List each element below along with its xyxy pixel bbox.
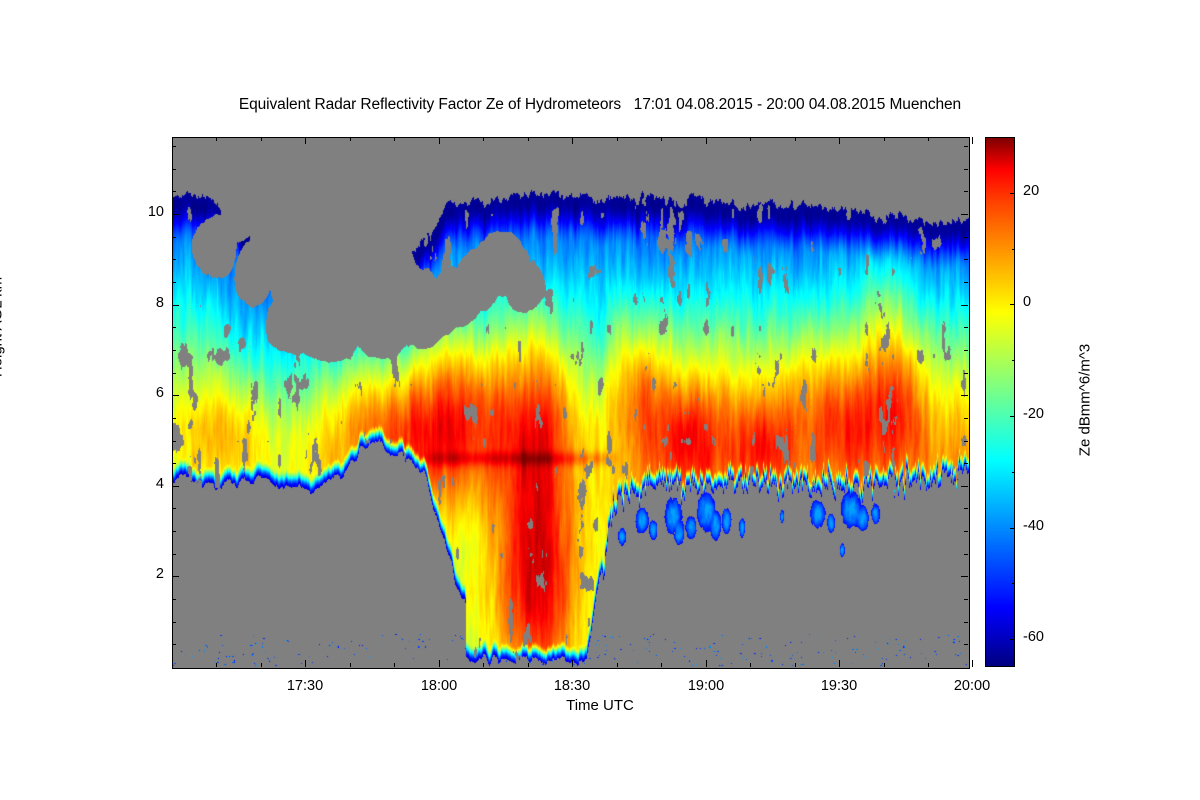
y-axis-minor-tick — [172, 259, 176, 260]
x-axis-minor-tick — [795, 663, 796, 667]
y-axis-label: Height AGL km — [0, 197, 6, 457]
y-axis-minor-tick — [172, 508, 176, 509]
y-axis-tick-label: 4 — [120, 476, 164, 492]
y-axis-minor-tick — [172, 237, 176, 238]
y-axis-minor-tick — [172, 191, 176, 192]
x-axis-minor-tick — [216, 137, 217, 141]
colorbar-tick — [1010, 639, 1015, 640]
y-axis-tick — [172, 486, 179, 487]
x-axis-tick — [972, 660, 973, 667]
y-axis-minor-tick — [172, 282, 176, 283]
y-axis-minor-tick — [964, 508, 968, 509]
x-axis-minor-tick — [617, 663, 618, 667]
x-axis-minor-tick — [617, 137, 618, 141]
y-axis-minor-tick — [964, 418, 968, 419]
y-axis-minor-tick — [172, 350, 176, 351]
y-axis-minor-tick — [172, 146, 176, 147]
y-axis-tick-label: 10 — [120, 204, 164, 220]
radar-reflectivity-figure: Equivalent Radar Reflectivity Factor Ze … — [0, 0, 1200, 800]
x-axis-minor-tick — [661, 663, 662, 667]
x-axis-tick-label: 17:30 — [260, 678, 350, 694]
y-axis-minor-tick — [964, 441, 968, 442]
x-axis-minor-tick — [661, 137, 662, 141]
y-axis-minor-tick — [964, 463, 968, 464]
x-axis-minor-tick — [261, 137, 262, 141]
y-axis-minor-tick — [964, 282, 968, 283]
y-axis-tick-label: 2 — [120, 566, 164, 582]
x-axis-tick-label: 19:00 — [661, 678, 751, 694]
y-axis-minor-tick — [172, 599, 176, 600]
x-axis-tick — [305, 137, 306, 144]
x-axis-label: Time UTC — [0, 697, 1200, 714]
colorbar-minor-tick — [1012, 583, 1015, 584]
x-axis-minor-tick — [216, 663, 217, 667]
x-axis-minor-tick — [928, 663, 929, 667]
reflectivity-heatmap — [173, 138, 969, 668]
y-axis-minor-tick — [172, 418, 176, 419]
colorbar-tick-label: -60 — [1023, 629, 1083, 645]
y-axis-tick — [961, 214, 968, 215]
y-axis-minor-tick — [964, 554, 968, 555]
y-axis-minor-tick — [964, 169, 968, 170]
x-axis-minor-tick — [795, 137, 796, 141]
colorbar-tick-label: -20 — [1023, 406, 1083, 422]
y-axis-minor-tick — [964, 531, 968, 532]
y-axis-minor-tick — [964, 599, 968, 600]
y-axis-minor-tick — [172, 644, 176, 645]
x-axis-minor-tick — [750, 137, 751, 141]
y-axis-tick — [961, 576, 968, 577]
x-axis-minor-tick — [350, 137, 351, 141]
x-axis-minor-tick — [483, 137, 484, 141]
y-axis-tick — [961, 486, 968, 487]
colorbar-tick — [1010, 416, 1015, 417]
y-axis-minor-tick — [172, 531, 176, 532]
x-axis-tick-label: 19:30 — [794, 678, 884, 694]
x-axis-minor-tick — [528, 663, 529, 667]
colorbar — [985, 137, 1015, 667]
y-axis-minor-tick — [964, 373, 968, 374]
x-axis-tick — [839, 660, 840, 667]
x-axis-tick — [972, 137, 973, 144]
y-axis-minor-tick — [964, 622, 968, 623]
y-axis-minor-tick — [964, 259, 968, 260]
y-axis-minor-tick — [172, 373, 176, 374]
x-axis-minor-tick — [928, 137, 929, 141]
x-axis-tick — [439, 660, 440, 667]
x-axis-tick — [572, 660, 573, 667]
x-axis-minor-tick — [350, 663, 351, 667]
x-axis-tick — [839, 137, 840, 144]
x-axis-tick — [572, 137, 573, 144]
y-axis-minor-tick — [172, 463, 176, 464]
y-axis-tick — [961, 305, 968, 306]
y-axis-minor-tick — [964, 146, 968, 147]
y-axis-minor-tick — [964, 327, 968, 328]
x-axis-minor-tick — [261, 663, 262, 667]
colorbar-minor-tick — [1012, 249, 1015, 250]
x-axis-tick — [706, 660, 707, 667]
y-axis-minor-tick — [172, 554, 176, 555]
y-axis-tick-label: 6 — [120, 385, 164, 401]
figure-title: Equivalent Radar Reflectivity Factor Ze … — [0, 96, 1200, 114]
x-axis-tick-label: 18:30 — [527, 678, 617, 694]
x-axis-minor-tick — [750, 663, 751, 667]
colorbar-minor-tick — [1012, 472, 1015, 473]
colorbar-tick — [1010, 304, 1015, 305]
colorbar-minor-tick — [1012, 360, 1015, 361]
x-axis-tick — [305, 660, 306, 667]
colorbar-tick — [1010, 193, 1015, 194]
y-axis-minor-tick — [964, 191, 968, 192]
y-axis-tick — [172, 395, 179, 396]
y-axis-minor-tick — [964, 644, 968, 645]
colorbar-tick — [1010, 528, 1015, 529]
colorbar-minor-tick — [1012, 137, 1015, 138]
colorbar-tick-label: 20 — [1023, 183, 1083, 199]
colorbar-tick-label: 0 — [1023, 294, 1083, 310]
x-axis-tick-label: 18:00 — [394, 678, 484, 694]
x-axis-minor-tick — [394, 137, 395, 141]
y-axis-tick — [172, 576, 179, 577]
y-axis-minor-tick — [964, 237, 968, 238]
colorbar-gradient — [985, 137, 1015, 667]
y-axis-minor-tick — [172, 327, 176, 328]
y-axis-tick-label: 8 — [120, 295, 164, 311]
x-axis-tick — [439, 137, 440, 144]
x-axis-minor-tick — [884, 663, 885, 667]
y-axis-minor-tick — [172, 169, 176, 170]
x-axis-tick-label: 20:00 — [927, 678, 1017, 694]
plot-area — [172, 137, 970, 669]
x-axis-minor-tick — [394, 663, 395, 667]
x-axis-minor-tick — [483, 663, 484, 667]
x-axis-minor-tick — [884, 137, 885, 141]
colorbar-tick-label: -40 — [1023, 518, 1083, 534]
x-axis-minor-tick — [528, 137, 529, 141]
y-axis-minor-tick — [172, 441, 176, 442]
y-axis-tick — [961, 395, 968, 396]
y-axis-minor-tick — [172, 622, 176, 623]
y-axis-tick — [172, 214, 179, 215]
x-axis-tick — [706, 137, 707, 144]
y-axis-minor-tick — [964, 350, 968, 351]
y-axis-tick — [172, 305, 179, 306]
